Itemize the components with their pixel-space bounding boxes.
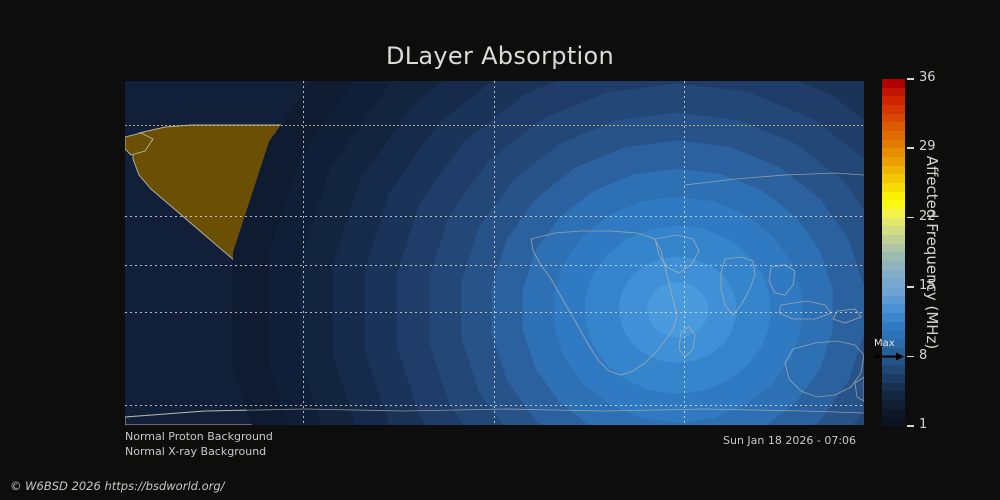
colorbar-segment (882, 122, 905, 131)
copyright-notice: © W6BSD 2026 https://bsdworld.org/ (10, 479, 225, 493)
colorbar[interactable] (882, 79, 905, 426)
absorption-contour-band (647, 282, 708, 338)
colorbar-segment (882, 218, 905, 227)
max-marker-label: Max (874, 338, 895, 349)
map-canvas (125, 81, 864, 425)
colorbar-segment (882, 374, 905, 383)
colorbar-tick-dash (907, 286, 914, 288)
colorbar-segment (882, 365, 905, 374)
colorbar-segment (882, 166, 905, 175)
colorbar-segment (882, 409, 905, 418)
colorbar-segment (882, 105, 905, 114)
colorbar-segment (882, 244, 905, 253)
colorbar-segment (882, 209, 905, 218)
colorbar-segment (882, 296, 905, 305)
colorbar-tick-dash (907, 425, 914, 427)
colorbar-segment (882, 157, 905, 166)
world-map[interactable] (125, 81, 864, 425)
max-arrow-icon (874, 352, 904, 361)
colorbar-segment (882, 183, 905, 192)
colorbar-segment (882, 400, 905, 409)
colorbar-segment (882, 313, 905, 322)
colorbar-segment (882, 174, 905, 183)
colorbar-tick-dash (907, 147, 914, 149)
colorbar-segment (882, 391, 905, 400)
colorbar-segment (882, 96, 905, 105)
colorbar-segment (882, 304, 905, 313)
colorbar-segment (882, 131, 905, 140)
colorbar-segment (882, 322, 905, 331)
colorbar-segment (882, 140, 905, 149)
colorbar-segment (882, 226, 905, 235)
colorbar-segment (882, 148, 905, 157)
colorbar-tick-dash (907, 78, 914, 80)
colorbar-segment (882, 278, 905, 287)
colorbar-segment (882, 114, 905, 123)
colorbar-segment (882, 235, 905, 244)
colorbar-segment (882, 383, 905, 392)
colorbar-segment (882, 79, 905, 88)
colorbar-segment (882, 417, 905, 426)
page-title: DLayer Absorption (0, 42, 1000, 70)
note-proton-background: Normal Proton Background (125, 430, 273, 443)
max-marker: Max (874, 338, 910, 362)
colorbar-segment (882, 261, 905, 270)
note-xray-background: Normal X-ray Background (125, 445, 266, 458)
colorbar-segment (882, 287, 905, 296)
colorbar-axis-label: Affected Frequency (MHz) (921, 79, 943, 426)
colorbar-segment (882, 252, 905, 261)
colorbar-gradient (882, 79, 905, 426)
timestamp-label: Sun Jan 18 2026 - 07:06 (723, 434, 856, 447)
colorbar-segment (882, 200, 905, 209)
colorbar-segment (882, 270, 905, 279)
dlayer-absorption-page: DLayer Absorption (0, 0, 1000, 500)
absorption-bands (233, 81, 864, 425)
colorbar-segment (882, 192, 905, 201)
colorbar-tick-dash (907, 217, 914, 219)
colorbar-segment (882, 88, 905, 97)
